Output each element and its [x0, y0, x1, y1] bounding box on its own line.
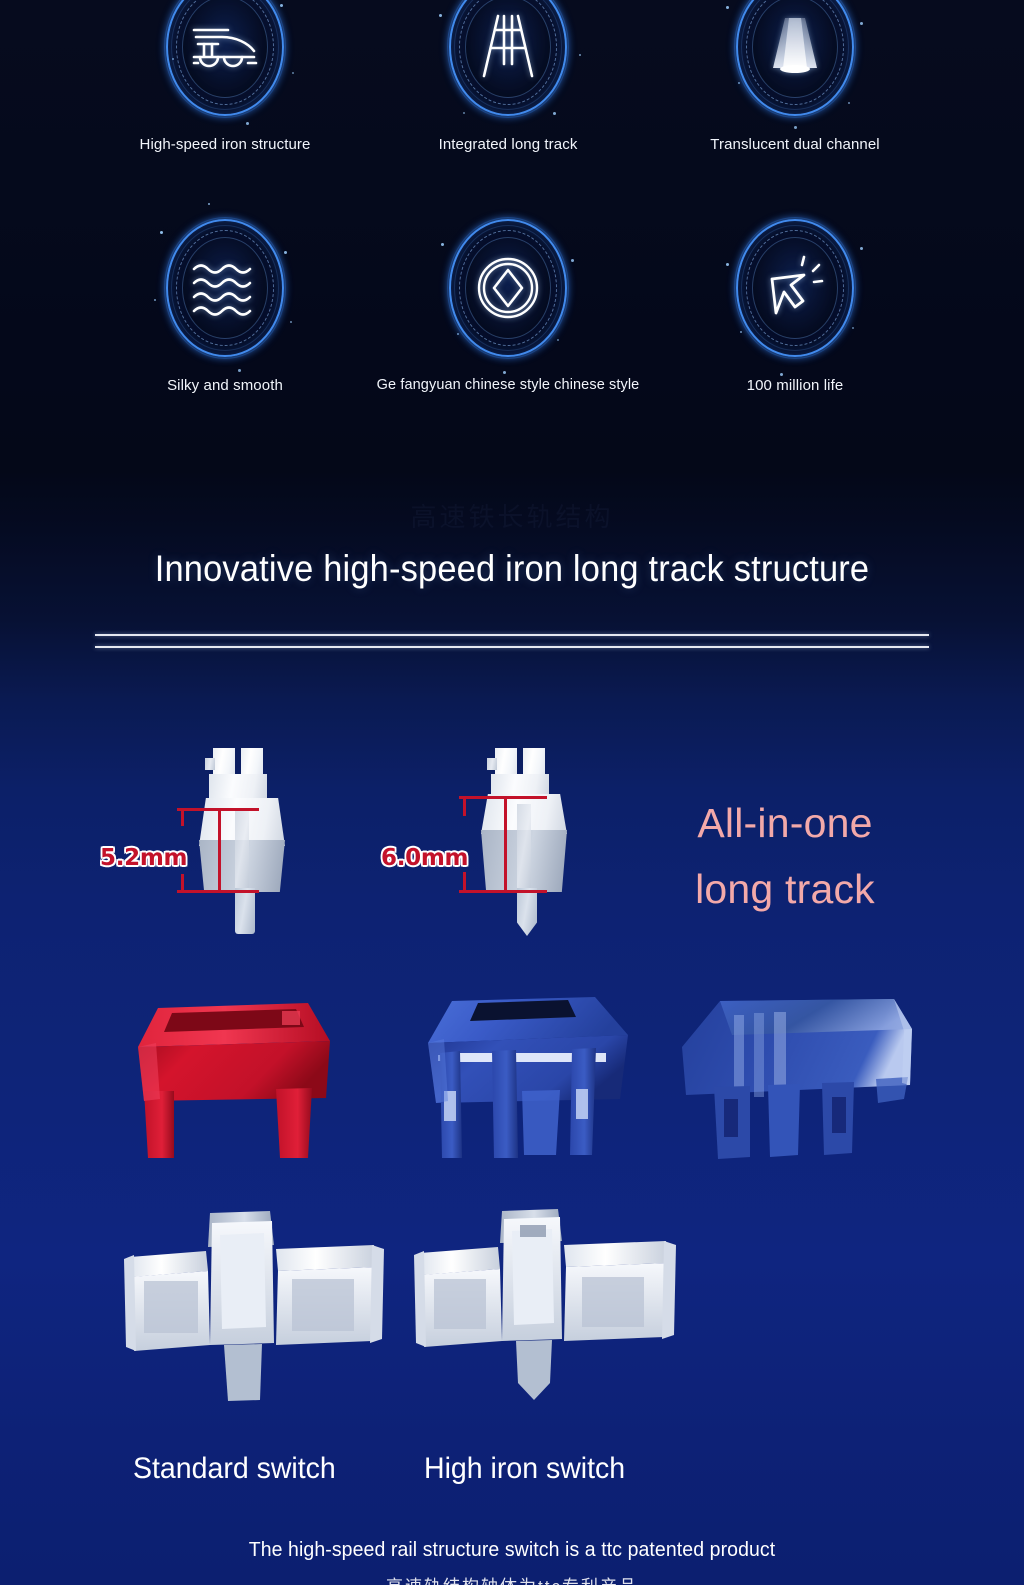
housing-parts-row: [0, 975, 1024, 1175]
background-watermark: 高速铁长轨结构: [0, 497, 1024, 534]
dimension-label-high-iron: 6.0mm: [381, 845, 468, 871]
dimension-label-standard: 5.2mm: [100, 845, 187, 871]
feature-label: Translucent dual channel: [652, 136, 938, 153]
coin-diamond-icon: [433, 203, 583, 373]
highlight-line-1: All-in-one: [620, 790, 950, 856]
blue-housing-side-part: [672, 987, 922, 1162]
feature-label: Integrated long track: [365, 136, 651, 153]
feature-icon-grid: High-speed iron structure: [0, 0, 1024, 460]
feature-label: High-speed iron structure: [82, 136, 368, 153]
feature-label: Ge fangyuan chinese style chinese style: [365, 377, 651, 393]
feature-translucent-dual-channel: Translucent dual channel: [652, 0, 938, 153]
waves-icon: [150, 203, 300, 373]
blue-housing-front-part: [420, 983, 655, 1163]
headline-rule-top: [95, 634, 929, 636]
standard-switch-label: Standard switch: [133, 1452, 336, 1486]
feature-label: Silky and smooth: [82, 377, 368, 394]
headline-rule-bottom: [95, 646, 929, 648]
bullet-train-icon: [150, 0, 300, 132]
high-iron-switch-render: [487, 748, 607, 948]
assembled-switch-row: [0, 1195, 1024, 1410]
dimension-bracket: [459, 796, 547, 799]
standard-switch-assembly: [120, 1195, 390, 1410]
patent-footnote-cn: 高速轨结构轴体为ttc专利产品: [0, 1572, 1024, 1585]
feature-high-speed-iron-structure: High-speed iron structure: [82, 0, 368, 153]
feature-silky-and-smooth: Silky and smooth: [82, 203, 368, 394]
feature-label: 100 million life: [652, 377, 938, 394]
product-detail-page: 高速铁长轨结构: [0, 0, 1024, 1585]
red-housing-part: [130, 983, 340, 1158]
feature-integrated-long-track: Integrated long track: [365, 0, 651, 153]
light-beam-glyph: [758, 10, 832, 84]
patent-footnote: The high-speed rail structure switch is …: [26, 1538, 999, 1562]
feature-ge-fangyuan: Ge fangyuan chinese style chinese style: [365, 203, 651, 393]
section-headline: Innovative high-speed iron long track st…: [36, 548, 988, 590]
standard-switch-render: [205, 748, 325, 948]
light-beam-icon: [720, 0, 870, 132]
click-cursor-icon: [720, 203, 870, 373]
highlight-line-2: long track: [620, 856, 950, 922]
all-in-one-highlight: All-in-one long track: [620, 790, 950, 923]
high-iron-switch-assembly: [410, 1195, 680, 1410]
feature-hundred-million-life: 100 million life: [652, 203, 938, 394]
railway-track-icon: [433, 0, 583, 132]
high-iron-switch-label: High iron switch: [424, 1452, 625, 1486]
